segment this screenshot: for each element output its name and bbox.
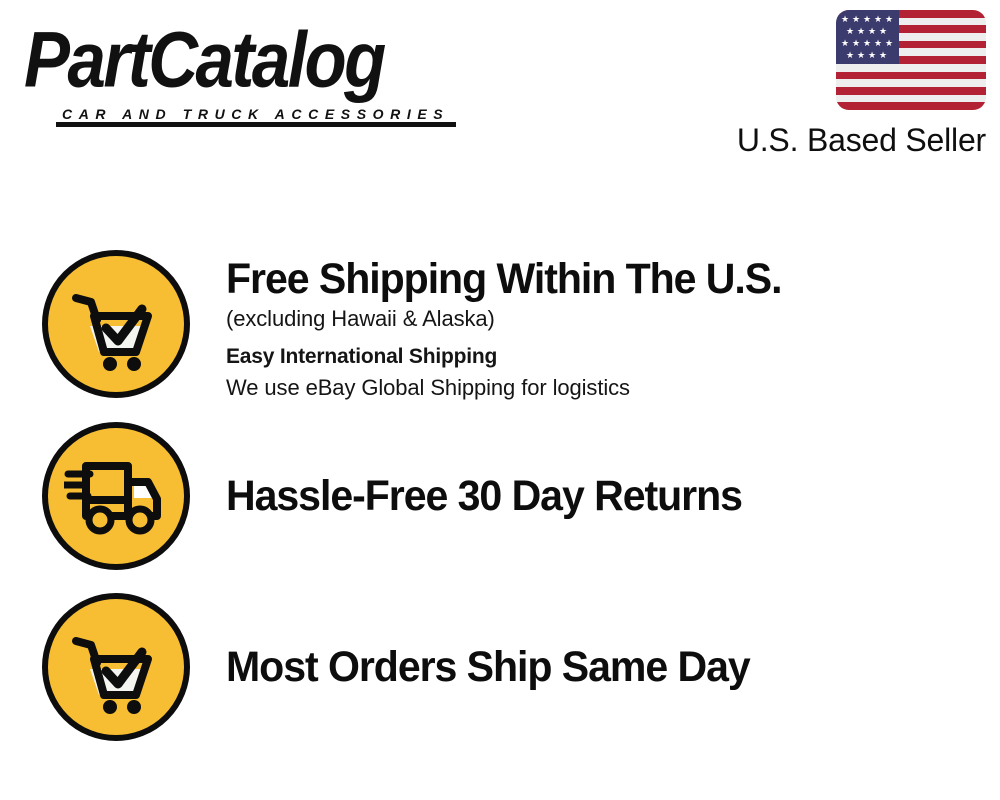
seller-badge-label: U.S. Based Seller [714, 121, 986, 159]
flag-star: ★ [874, 15, 882, 24]
page-header: PartCatalog CAR AND TRUCK ACCESSORIES ★ … [0, 0, 1000, 175]
benefit-row: Hassle-Free 30 Day Returns [42, 422, 982, 570]
us-flag-icon: ★ ★ ★ ★ ★ ★ ★ ★ ★ ★ ★ ★ ★ ★ ★ ★ ★ ★ [836, 10, 986, 110]
benefit-title: Most Orders Ship Same Day [226, 640, 750, 694]
flag-star: ★ [846, 51, 854, 60]
brand-tagline: CAR AND TRUCK ACCESSORIES [62, 106, 449, 122]
flag-star: ★ [857, 51, 865, 60]
flag-star: ★ [879, 51, 887, 60]
benefit-row: Free Shipping Within The U.S. (excluding… [42, 250, 982, 403]
flag-star: ★ [863, 39, 871, 48]
flag-star: ★ [868, 51, 876, 60]
benefit-title: Hassle-Free 30 Day Returns [226, 469, 742, 523]
us-based-seller-badge: ★ ★ ★ ★ ★ ★ ★ ★ ★ ★ ★ ★ ★ ★ ★ ★ ★ ★ U.S.… [714, 10, 986, 159]
brand-wordmark: PartCatalog [24, 18, 494, 102]
flag-star: ★ [841, 39, 849, 48]
flag-stripe [836, 79, 986, 87]
benefit-subtitle-strong: Easy International Shipping [226, 342, 808, 372]
delivery-truck-icon [42, 422, 190, 570]
benefit-title: Free Shipping Within The U.S. [226, 254, 781, 304]
flag-stripe [836, 64, 986, 72]
flag-star: ★ [879, 27, 887, 36]
benefit-subtitle: (excluding Hawaii & Alaska) [226, 304, 808, 334]
brand-logo[interactable]: PartCatalog CAR AND TRUCK ACCESSORIES [24, 18, 494, 118]
flag-stripe [836, 72, 986, 80]
flag-star: ★ [852, 15, 860, 24]
flag-star: ★ [868, 27, 876, 36]
flag-star: ★ [874, 39, 882, 48]
benefit-text: Most Orders Ship Same Day [226, 640, 774, 694]
flag-star: ★ [841, 15, 849, 24]
flag-stripe [836, 95, 986, 103]
flag-star: ★ [863, 15, 871, 24]
flag-star: ★ [852, 39, 860, 48]
flag-star: ★ [857, 27, 865, 36]
flag-star: ★ [846, 27, 854, 36]
flag-star: ★ [885, 39, 893, 48]
shopping-cart-check-icon [42, 593, 190, 741]
flag-stripe [836, 102, 986, 110]
shopping-cart-check-icon [42, 250, 190, 398]
benefit-row: Most Orders Ship Same Day [42, 593, 982, 741]
flag-stripe [836, 87, 986, 95]
benefit-text: Free Shipping Within The U.S. (excluding… [226, 250, 808, 403]
flag-star: ★ [885, 15, 893, 24]
benefit-subtitle-detail: We use eBay Global Shipping for logistic… [226, 373, 808, 403]
benefit-text: Hassle-Free 30 Day Returns [226, 469, 766, 523]
logo-swash-rule [56, 122, 456, 127]
